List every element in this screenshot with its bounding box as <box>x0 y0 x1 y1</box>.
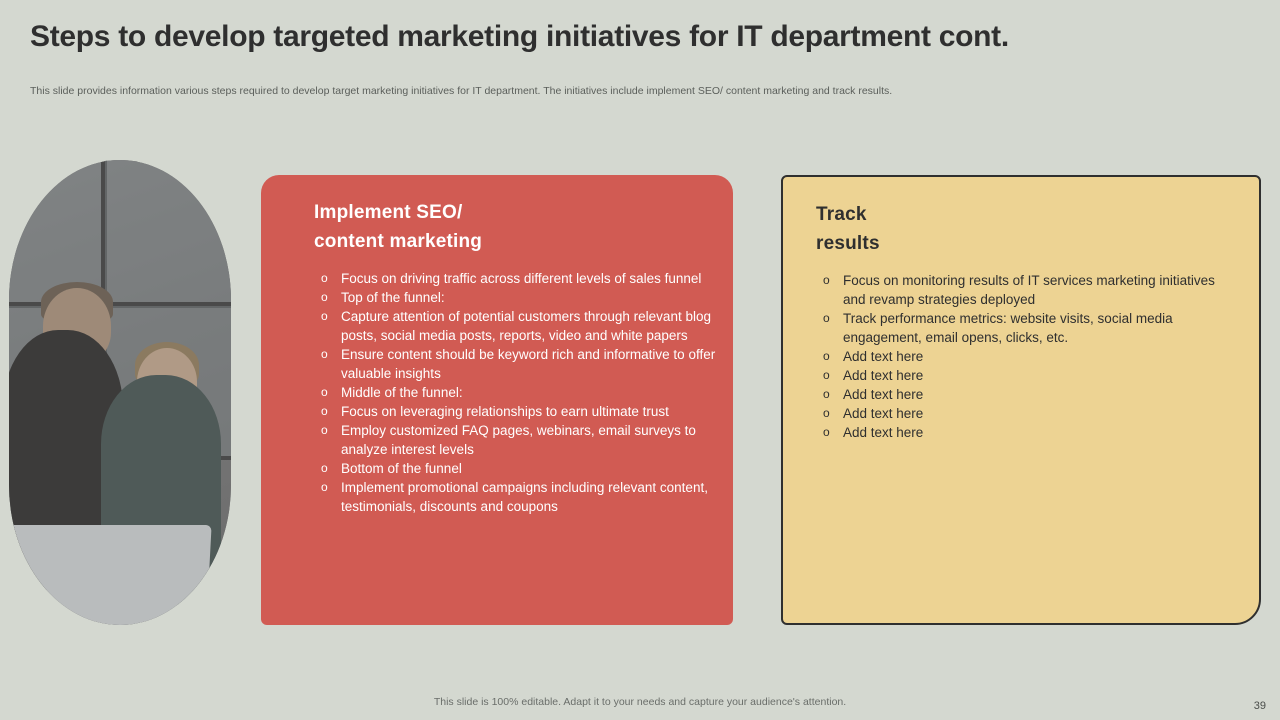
page-title: Steps to develop targeted marketing init… <box>30 20 1009 54</box>
card-heading-line1: Implement SEO/ <box>314 199 482 228</box>
footer-note: This slide is 100% editable. Adapt it to… <box>0 696 1280 708</box>
card-bullet-list: Focus on driving traffic across differen… <box>319 269 719 516</box>
laptop-icon <box>9 525 212 625</box>
card-heading: Track results <box>816 201 880 258</box>
list-item: Employ customized FAQ pages, webinars, e… <box>319 421 719 459</box>
list-item: Add text here <box>821 366 1231 385</box>
page-number: 39 <box>1254 700 1266 712</box>
list-item: Ensure content should be keyword rich an… <box>319 345 719 383</box>
list-item: Add text here <box>821 347 1231 366</box>
slide-canvas: Steps to develop targeted marketing init… <box>0 0 1280 720</box>
list-item: Add text here <box>821 423 1231 442</box>
window-pane-icon <box>101 160 231 308</box>
photo-image <box>9 160 231 625</box>
list-item: Bottom of the funnel <box>319 459 719 478</box>
list-item: Capture attention of potential customers… <box>319 307 719 345</box>
list-item: Track performance metrics: website visit… <box>821 309 1231 347</box>
slide-subtitle: This slide provides information various … <box>30 85 892 97</box>
list-item: Implement promotional campaigns includin… <box>319 478 719 516</box>
card-bullet-list: Focus on monitoring results of IT servic… <box>821 271 1231 442</box>
list-item: Focus on driving traffic across differen… <box>319 269 719 288</box>
list-item: Top of the funnel: <box>319 288 719 307</box>
list-item: Focus on leveraging relationships to ear… <box>319 402 719 421</box>
list-item: Add text here <box>821 385 1231 404</box>
card-heading: Implement SEO/ content marketing <box>314 199 482 256</box>
list-item: Focus on monitoring results of IT servic… <box>821 271 1231 309</box>
card-heading-line2: content marketing <box>314 228 482 257</box>
list-item: Middle of the funnel: <box>319 383 719 402</box>
card-heading-line1: Track <box>816 201 880 230</box>
card-heading-line2: results <box>816 230 880 259</box>
list-item: Add text here <box>821 404 1231 423</box>
card-implement-seo: Implement SEO/ content marketing Focus o… <box>261 175 733 625</box>
card-track-results: Track results Focus on monitoring result… <box>781 175 1261 625</box>
